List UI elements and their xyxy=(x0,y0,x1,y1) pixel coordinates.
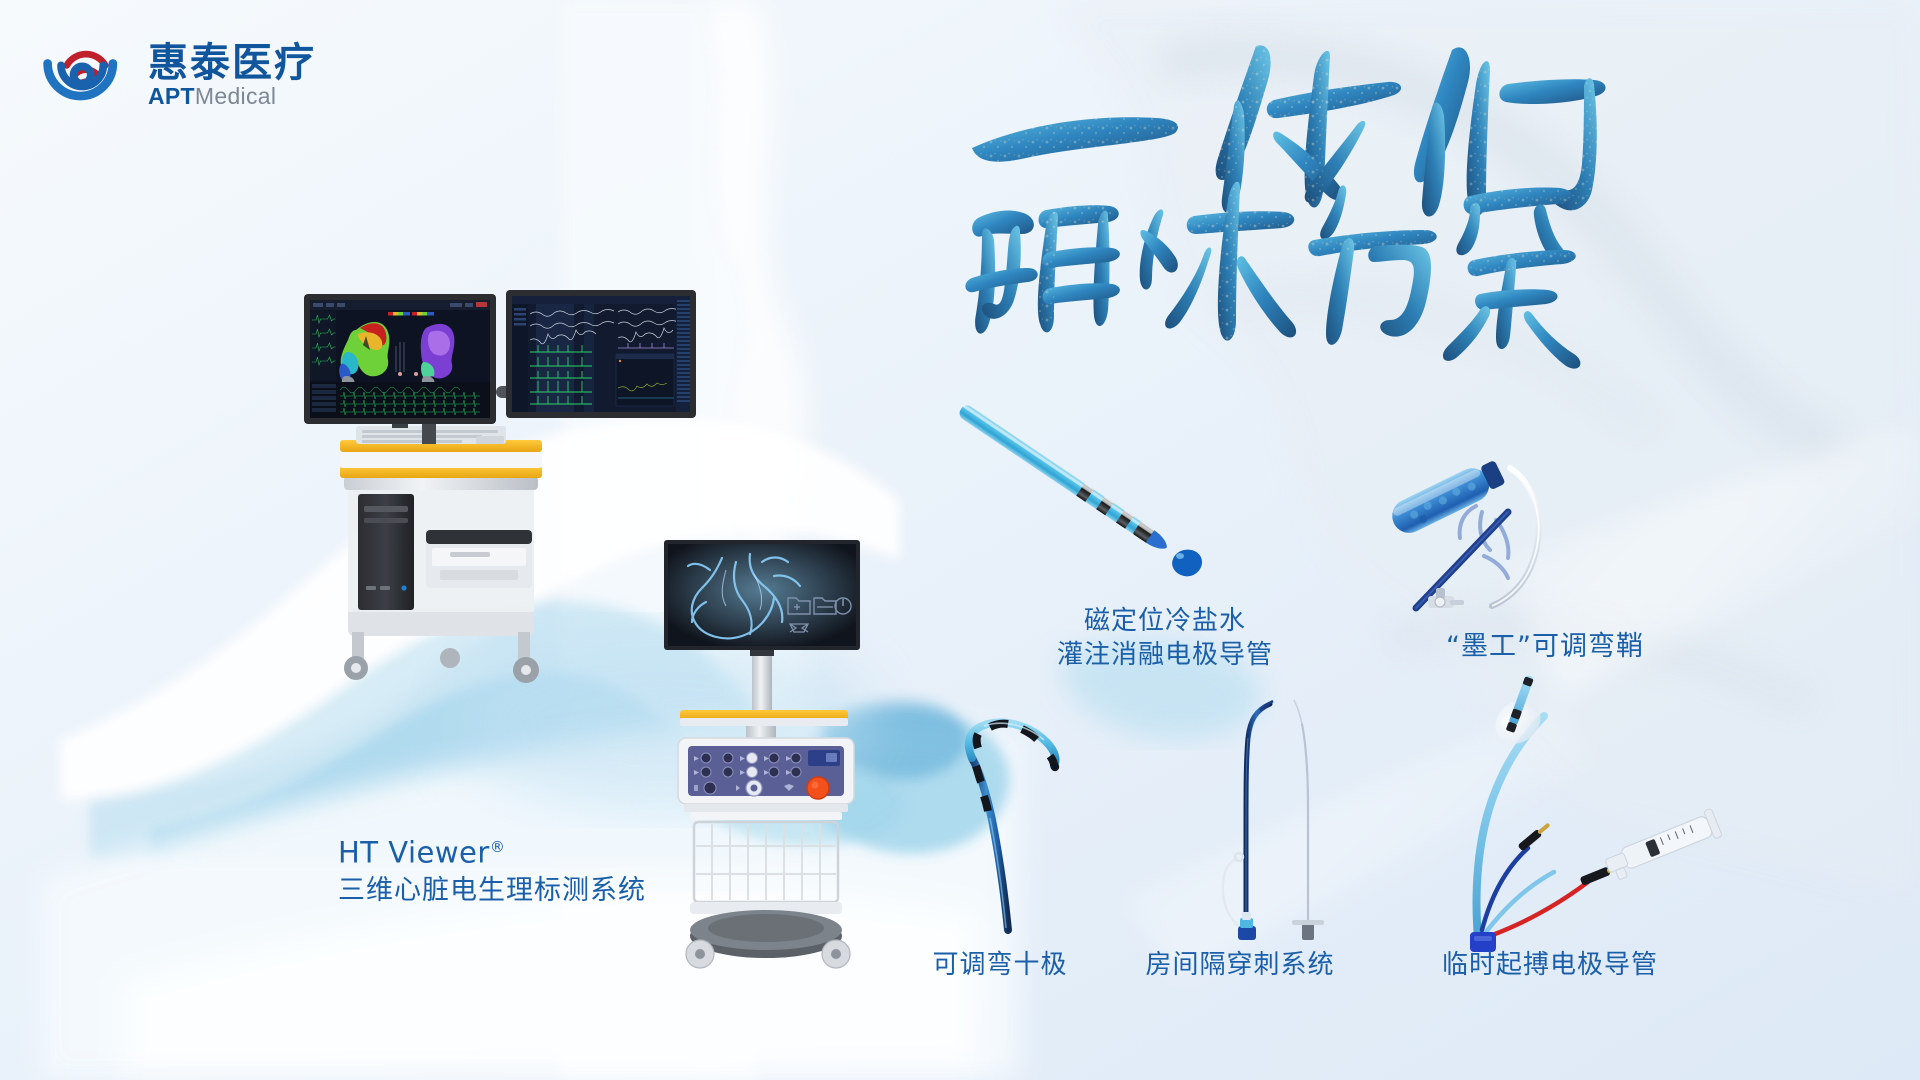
poster-canvas: 惠泰医疗 APTMedical xyxy=(0,0,1920,1080)
rf-generator xyxy=(678,738,854,804)
lead-pin-blue xyxy=(1517,821,1551,852)
brand-logo: 惠泰医疗 APTMedical xyxy=(38,18,338,128)
brand-en-name: APTMedical xyxy=(148,85,316,108)
pc-tower xyxy=(358,494,414,610)
heart-display-monitor xyxy=(664,540,860,656)
ht-viewer-cn: 三维心脏电生理标测系统 xyxy=(338,872,646,910)
headline-calligraphy xyxy=(960,40,1620,340)
generator-power-button[interactable] xyxy=(807,777,829,799)
recording-monitor xyxy=(506,290,696,418)
brand-en-light: Medical xyxy=(195,83,276,109)
ablation-catheter xyxy=(970,430,1250,590)
trademark-symbol: ® xyxy=(490,838,506,856)
pacing-catheter xyxy=(1470,670,1800,950)
brand-en-bold: APT xyxy=(148,83,195,109)
decapolar-catheter xyxy=(930,700,1140,930)
caption-decapolar: 可调弯十极 xyxy=(890,948,1110,982)
syringe xyxy=(1602,808,1723,882)
caption-pacing-catheter: 临时起搏电极导管 xyxy=(1380,948,1720,982)
generator-cart xyxy=(650,540,930,1010)
apt-medical-spiral-logo xyxy=(38,25,134,121)
printer xyxy=(426,530,532,588)
guidewire-hub xyxy=(1292,920,1324,940)
ht-viewer-en: HT Viewer® xyxy=(338,828,646,872)
cart-frame xyxy=(684,804,850,968)
caption-steerable-sheath: “墨工”可调弯鞘 xyxy=(1400,630,1690,664)
steerable-sheath xyxy=(1400,430,1690,630)
ht-viewer-name: HT Viewer xyxy=(338,836,490,870)
transseptal-system xyxy=(1180,660,1350,940)
mapping-monitor xyxy=(304,294,496,428)
caption-ht-viewer: HT Viewer® 三维心脏电生理标测系统 xyxy=(338,828,646,910)
caption-transseptal: 房间隔穿刺系统 xyxy=(1090,948,1390,982)
needle-hub xyxy=(1238,912,1256,940)
brand-cn-name: 惠泰医疗 xyxy=(148,43,316,83)
